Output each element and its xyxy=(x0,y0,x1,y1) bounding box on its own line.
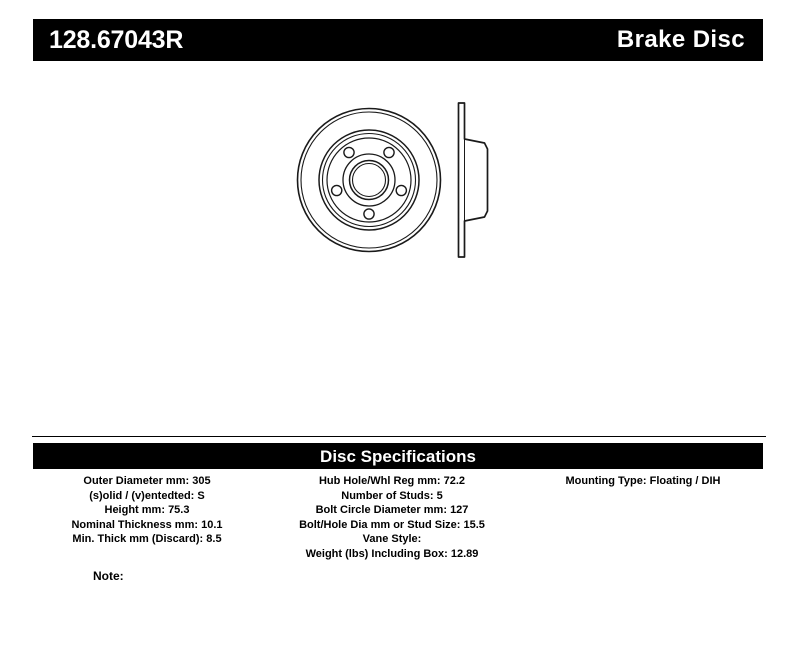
spec-row: Mounting Type: Floating / DIH xyxy=(565,474,720,489)
spec-label: Number of Studs: xyxy=(341,490,433,502)
spec-label: Height mm: xyxy=(105,504,166,516)
spec-column-middle: Hub Hole/Whl Reg mm: 72.2 Number of Stud… xyxy=(261,474,523,562)
rotor-face-view xyxy=(298,109,441,252)
spec-value: 72.2 xyxy=(444,475,465,487)
spec-label: Vane Style: xyxy=(363,533,422,545)
rotor-side-profile-view xyxy=(459,103,488,257)
note-label: Note: xyxy=(93,569,124,583)
product-type-label: Brake Disc xyxy=(617,28,745,52)
header-bar: 128.67043R Brake Disc xyxy=(33,19,763,61)
spec-row: Bolt Circle Diameter mm: 127 xyxy=(316,503,469,518)
spec-row: (s)olid / (v)entedted: S xyxy=(89,489,205,504)
spec-row: Min. Thick mm (Discard): 8.5 xyxy=(72,532,221,547)
spec-label: Nominal Thickness mm: xyxy=(71,519,198,531)
spec-value: 305 xyxy=(192,475,210,487)
spec-label: Weight (lbs) Including Box: xyxy=(306,548,448,560)
brake-disc-technical-drawing xyxy=(288,95,518,285)
spec-value: Floating / DIH xyxy=(650,475,721,487)
spec-row: Height mm: 75.3 xyxy=(105,503,190,518)
spec-row: Number of Studs: 5 xyxy=(341,489,442,504)
spec-label: (s)olid / (v)entedted: xyxy=(89,490,194,502)
spec-label: Bolt Circle Diameter mm: xyxy=(316,504,447,516)
section-divider xyxy=(32,436,766,437)
spec-row: Outer Diameter mm: 305 xyxy=(83,474,210,489)
specifications-table: Outer Diameter mm: 305 (s)olid / (v)ente… xyxy=(33,474,763,562)
spec-row: Hub Hole/Whl Reg mm: 72.2 xyxy=(319,474,465,489)
spec-label: Mounting Type: xyxy=(565,475,646,487)
spec-value: 75.3 xyxy=(168,504,189,516)
spec-label: Min. Thick mm (Discard): xyxy=(72,533,203,545)
spec-row: Nominal Thickness mm: 10.1 xyxy=(71,518,222,533)
spec-row: Vane Style: xyxy=(363,532,422,547)
spec-value: 5 xyxy=(437,490,443,502)
spec-label: Hub Hole/Whl Reg mm: xyxy=(319,475,441,487)
spec-row: Bolt/Hole Dia mm or Stud Size: 15.5 xyxy=(299,518,485,533)
note-block: Note: xyxy=(93,569,128,583)
disc-specifications-bar: Disc Specifications xyxy=(33,443,763,469)
spec-value: S xyxy=(197,490,204,502)
spec-label: Outer Diameter mm: xyxy=(83,475,189,487)
product-drawing-area xyxy=(0,75,800,415)
spec-label: Bolt/Hole Dia mm or Stud Size: xyxy=(299,519,460,531)
spec-row: Weight (lbs) Including Box: 12.89 xyxy=(306,547,479,562)
part-number: 128.67043R xyxy=(49,28,183,53)
spec-value: 12.89 xyxy=(451,548,479,560)
spec-column-right: Mounting Type: Floating / DIH xyxy=(523,474,763,489)
spec-value: 10.1 xyxy=(201,519,222,531)
spec-value: 127 xyxy=(450,504,468,516)
spec-value: 15.5 xyxy=(464,519,485,531)
disc-specifications-title: Disc Specifications xyxy=(320,448,476,465)
spec-value: 8.5 xyxy=(206,533,221,545)
spec-column-left: Outer Diameter mm: 305 (s)olid / (v)ente… xyxy=(33,474,261,547)
note-value xyxy=(124,569,128,583)
